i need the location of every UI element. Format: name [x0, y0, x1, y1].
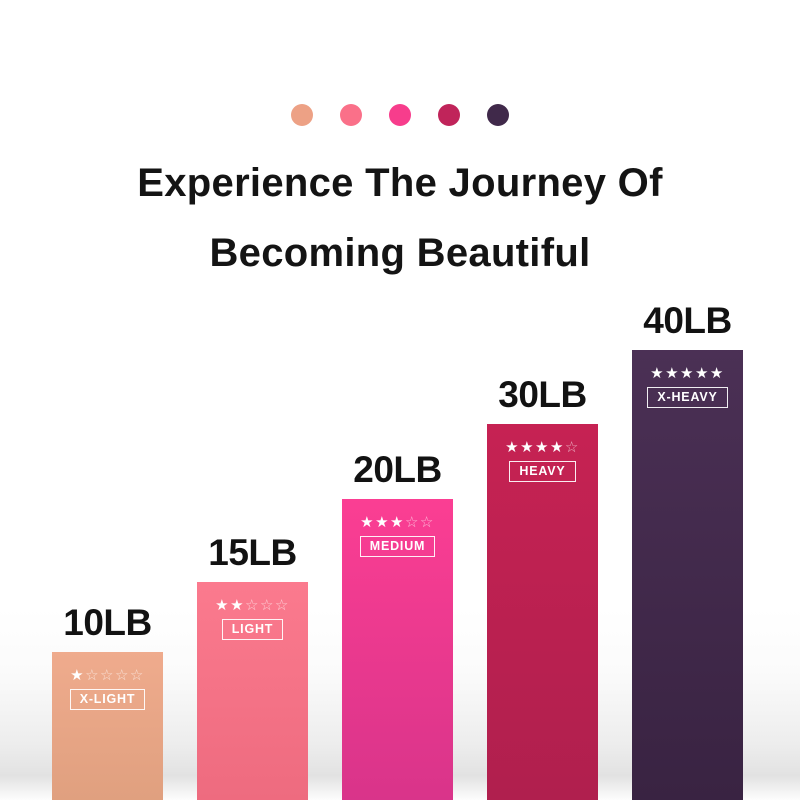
bar-group-x-heavy[interactable]: 40LB★★★★★X-HEAVY — [632, 350, 743, 800]
bar-column: ★★☆☆☆LIGHT — [197, 582, 308, 800]
grade-badge: MEDIUM — [360, 536, 436, 557]
bar-value-label: 15LB — [197, 532, 308, 582]
star-rating-icon: ★★★★☆ — [505, 440, 580, 455]
bar-value-label: 40LB — [632, 300, 743, 350]
star-rating-icon: ★★★★★ — [650, 366, 725, 381]
bar-value-label: 10LB — [52, 602, 163, 652]
star-rating-icon: ★☆☆☆☆ — [70, 668, 145, 683]
grade-badge: X-HEAVY — [647, 387, 727, 408]
bar-group-light[interactable]: 15LB★★☆☆☆LIGHT — [197, 582, 308, 800]
bar-badge: ★★★★★X-HEAVY — [632, 366, 743, 408]
bar-value-label: 20LB — [342, 449, 453, 499]
resistance-bar-chart: 10LB★☆☆☆☆X-LIGHT15LB★★☆☆☆LIGHT20LB★★★☆☆M… — [0, 0, 800, 800]
bar-column: ★☆☆☆☆X-LIGHT — [52, 652, 163, 800]
bar-column: ★★★★☆HEAVY — [487, 424, 598, 800]
bar-group-heavy[interactable]: 30LB★★★★☆HEAVY — [487, 424, 598, 800]
bar-value-label: 30LB — [487, 374, 598, 424]
bar-badge: ★☆☆☆☆X-LIGHT — [52, 668, 163, 710]
product-infographic-poster: Experience The Journey Of Becoming Beaut… — [0, 0, 800, 800]
bar-badge: ★★☆☆☆LIGHT — [197, 598, 308, 640]
bar-column: ★★★☆☆MEDIUM — [342, 499, 453, 800]
bar-column: ★★★★★X-HEAVY — [632, 350, 743, 800]
star-rating-icon: ★★★☆☆ — [360, 515, 435, 530]
bar-group-x-light[interactable]: 10LB★☆☆☆☆X-LIGHT — [52, 652, 163, 800]
bar-group-medium[interactable]: 20LB★★★☆☆MEDIUM — [342, 499, 453, 800]
grade-badge: X-LIGHT — [70, 689, 146, 710]
star-rating-icon: ★★☆☆☆ — [215, 598, 290, 613]
grade-badge: HEAVY — [509, 461, 575, 482]
bar-badge: ★★★★☆HEAVY — [487, 440, 598, 482]
grade-badge: LIGHT — [222, 619, 284, 640]
bar-badge: ★★★☆☆MEDIUM — [342, 515, 453, 557]
